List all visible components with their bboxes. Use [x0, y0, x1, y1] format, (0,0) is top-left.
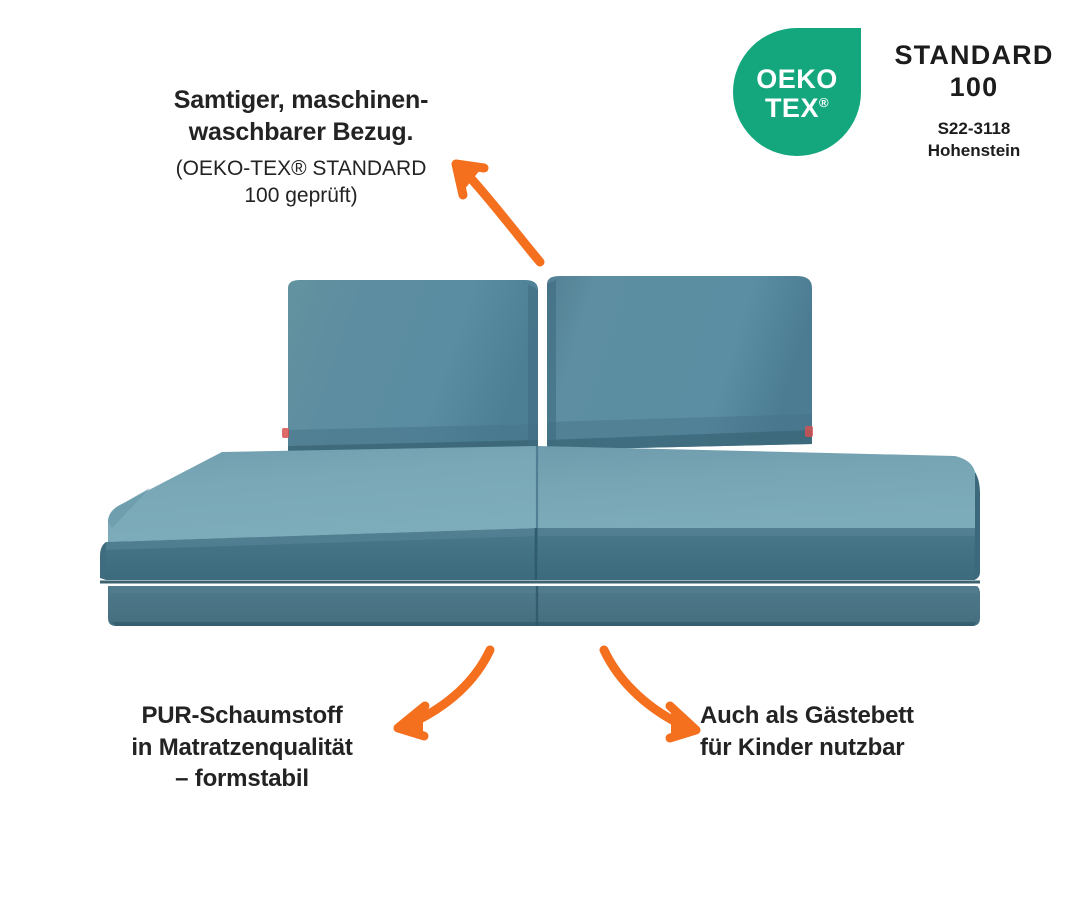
callout-foam-headline-line2: in Matratzenqualität — [52, 732, 432, 764]
callout-foam-headline: PUR-Schaumstoff in Matratzenqualität – f… — [52, 700, 432, 795]
base-mattress — [108, 586, 980, 626]
certificate-number: S22-3118 — [876, 118, 1072, 141]
callout-cover-headline: Samtiger, maschinen- waschbarer Bezug. — [96, 84, 506, 148]
brand-tag-left — [282, 428, 289, 438]
callout-foam-headline-line1: PUR-Schaumstoff — [52, 700, 432, 732]
callout-guestbed-headline-line1: Auch als Gästebett — [700, 700, 1040, 732]
registered-mark: ® — [819, 95, 829, 110]
oeko-tex-details: STANDARD 100 S22-3118 Hohenstein — [876, 40, 1072, 163]
product-feature-graphic: OEKO TEX® STANDARD 100 S22-3118 Hohenste… — [0, 0, 1080, 900]
backrest-cushion-right — [547, 276, 813, 450]
callout-guestbed-headline: Auch als Gästebett für Kinder nutzbar — [700, 700, 1040, 763]
standard-line-1: STANDARD — [876, 40, 1072, 72]
tex-label: TEX® — [765, 94, 829, 123]
curved-arrow-down-right-icon — [586, 636, 716, 756]
callout-foam-headline-line3: – formstabil — [52, 763, 432, 795]
callout-cover-headline-line1: Samtiger, maschinen- — [96, 84, 506, 116]
product-image-play-sofa — [0, 260, 1080, 640]
callout-guestbed: Auch als Gästebett für Kinder nutzbar — [700, 700, 1040, 763]
oeko-label: OEKO — [756, 65, 838, 94]
backrest-cushion-left — [282, 280, 538, 456]
sofa-illustration — [0, 260, 1080, 640]
curved-arrow-down-left-icon — [378, 636, 508, 756]
curved-arrow-up-left-icon — [440, 150, 610, 270]
oeko-tex-logo-text: OEKO TEX® — [733, 28, 861, 156]
callout-foam: PUR-Schaumstoff in Matratzenqualität – f… — [52, 700, 432, 795]
brand-tag-right — [805, 426, 813, 437]
certification-institute: Hohenstein — [876, 140, 1072, 163]
seat-cushion-left — [100, 446, 537, 580]
callout-guestbed-headline-line2: für Kinder nutzbar — [700, 732, 1040, 764]
callout-cover-headline-line2: waschbarer Bezug. — [96, 116, 506, 148]
standard-line-2: 100 — [876, 72, 1072, 104]
oeko-tex-badge: OEKO TEX® — [733, 28, 861, 156]
seat-cushion-right — [537, 446, 980, 580]
